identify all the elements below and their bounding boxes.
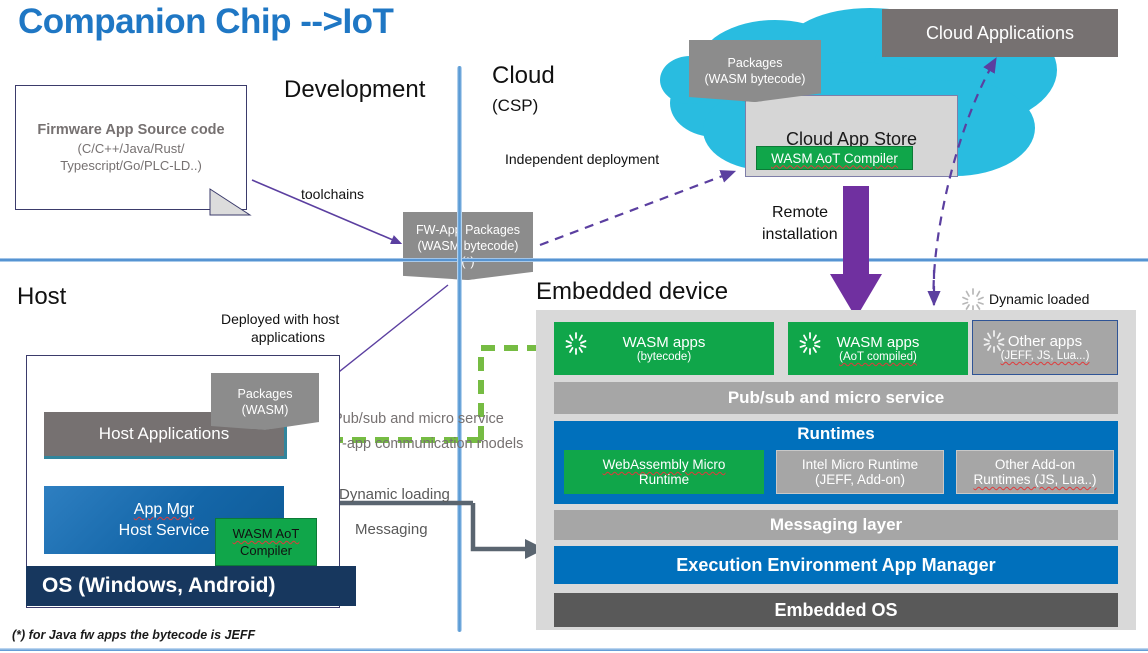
arrow-independent-deployment xyxy=(540,172,733,245)
embedded-runtime-2-line1: Other Add-on xyxy=(995,457,1075,472)
embedded-app-1-spinner-icon xyxy=(798,332,822,356)
packages-callout-host: Packages (WASM) xyxy=(211,373,319,430)
embedded-app-manager-bar[interactable]: Execution Environment App Manager xyxy=(554,546,1118,584)
packages-host-line1: Packages xyxy=(238,386,293,402)
embedded-app-2-spinner-icon xyxy=(982,330,1006,354)
packages-host-line2: (WASM) xyxy=(242,402,289,418)
footnote: (*) for Java fw apps the bytecode is JEF… xyxy=(12,628,255,642)
embedded-os-label: Embedded OS xyxy=(774,600,897,621)
slide-canvas: Companion Chip -->IoT Cloud Applications… xyxy=(0,0,1148,653)
label-deployed-line1: Deployed with host xyxy=(221,311,339,327)
label-deployed-line2: applications xyxy=(251,329,325,345)
label-remote-installation-line1: Remote xyxy=(772,204,828,222)
host-aot-line2: Compiler xyxy=(240,542,292,559)
host-applications-label: Host Applications xyxy=(99,424,229,444)
embedded-app-1-name: WASM apps xyxy=(837,334,920,351)
host-os-label: OS (Windows, Android) xyxy=(42,574,276,598)
host-app-mgr-line2: Host Service xyxy=(119,520,210,541)
label-remote-installation-line2: installation xyxy=(762,226,838,244)
label-pubsub-micro-service: Pub/sub and micro service xyxy=(333,411,504,427)
embedded-app-0-sub: (bytecode) xyxy=(637,351,691,363)
embedded-runtime-box-1[interactable]: Intel Micro Runtime (JEFF, Add-on) xyxy=(776,450,944,494)
embedded-os-bar[interactable]: Embedded OS xyxy=(554,593,1118,627)
arrow-deployed-with-host xyxy=(325,285,448,383)
embedded-runtime-0-line2: Runtime xyxy=(639,472,689,487)
label-inter-app-communication: Inter-app communication models xyxy=(313,436,523,452)
embedded-runtime-1-line1: Intel Micro Runtime xyxy=(802,457,918,472)
dynamic-loaded-spinner-icon xyxy=(960,288,986,312)
embedded-pubsub-bar[interactable]: Pub/sub and micro service xyxy=(554,382,1118,414)
host-aot-line1: WASM AoT xyxy=(233,525,300,542)
embedded-app-2-sub: (JEFF, JS, Lua...) xyxy=(1001,350,1090,362)
embedded-pubsub-label: Pub/sub and micro service xyxy=(728,388,944,408)
embedded-app-0-spinner-icon xyxy=(564,332,588,356)
embedded-runtimes-title: Runtimes xyxy=(554,421,1118,447)
embedded-app-manager-label: Execution Environment App Manager xyxy=(676,555,995,576)
bottom-divider xyxy=(0,648,1148,651)
embedded-runtime-0-line1: WebAssembly Micro xyxy=(603,457,726,472)
embedded-runtime-box-2[interactable]: Other Add-on Runtimes (JS, Lua..) xyxy=(956,450,1114,494)
embedded-runtime-2-line2: Runtimes (JS, Lua..) xyxy=(973,472,1096,487)
arrow-dynamic-loaded-up xyxy=(934,60,995,305)
host-app-mgr-line1: App Mgr xyxy=(134,499,194,520)
host-wasm-aot-compiler-box[interactable]: WASM AoT Compiler xyxy=(215,518,317,566)
label-independent-deployment: Independent deployment xyxy=(505,151,659,167)
embedded-messaging-label: Messaging layer xyxy=(770,515,902,535)
label-dynamic-loaded: Dynamic loaded xyxy=(989,291,1089,307)
label-messaging: Messaging xyxy=(355,521,428,538)
embedded-app-2-name: Other apps xyxy=(1008,333,1082,350)
embedded-messaging-bar[interactable]: Messaging layer xyxy=(554,510,1118,540)
embedded-app-0-name: WASM apps xyxy=(623,334,706,351)
embedded-app-1-sub: (AoT compiled) xyxy=(839,351,917,363)
embedded-runtime-1-line2: (JEFF, Add-on) xyxy=(815,472,905,487)
label-toolchains: toolchains xyxy=(301,186,364,202)
host-os-bar[interactable]: OS (Windows, Android) xyxy=(26,566,356,606)
embedded-device-panel: WASM apps (bytecode) WASM apps (AoT comp… xyxy=(536,310,1136,630)
embedded-runtime-box-0[interactable]: WebAssembly Micro Runtime xyxy=(564,450,764,494)
arrow-messaging xyxy=(473,503,525,549)
remote-installation-arrow xyxy=(830,186,882,318)
label-dynamic-loading: Dynamic loading xyxy=(339,486,450,503)
